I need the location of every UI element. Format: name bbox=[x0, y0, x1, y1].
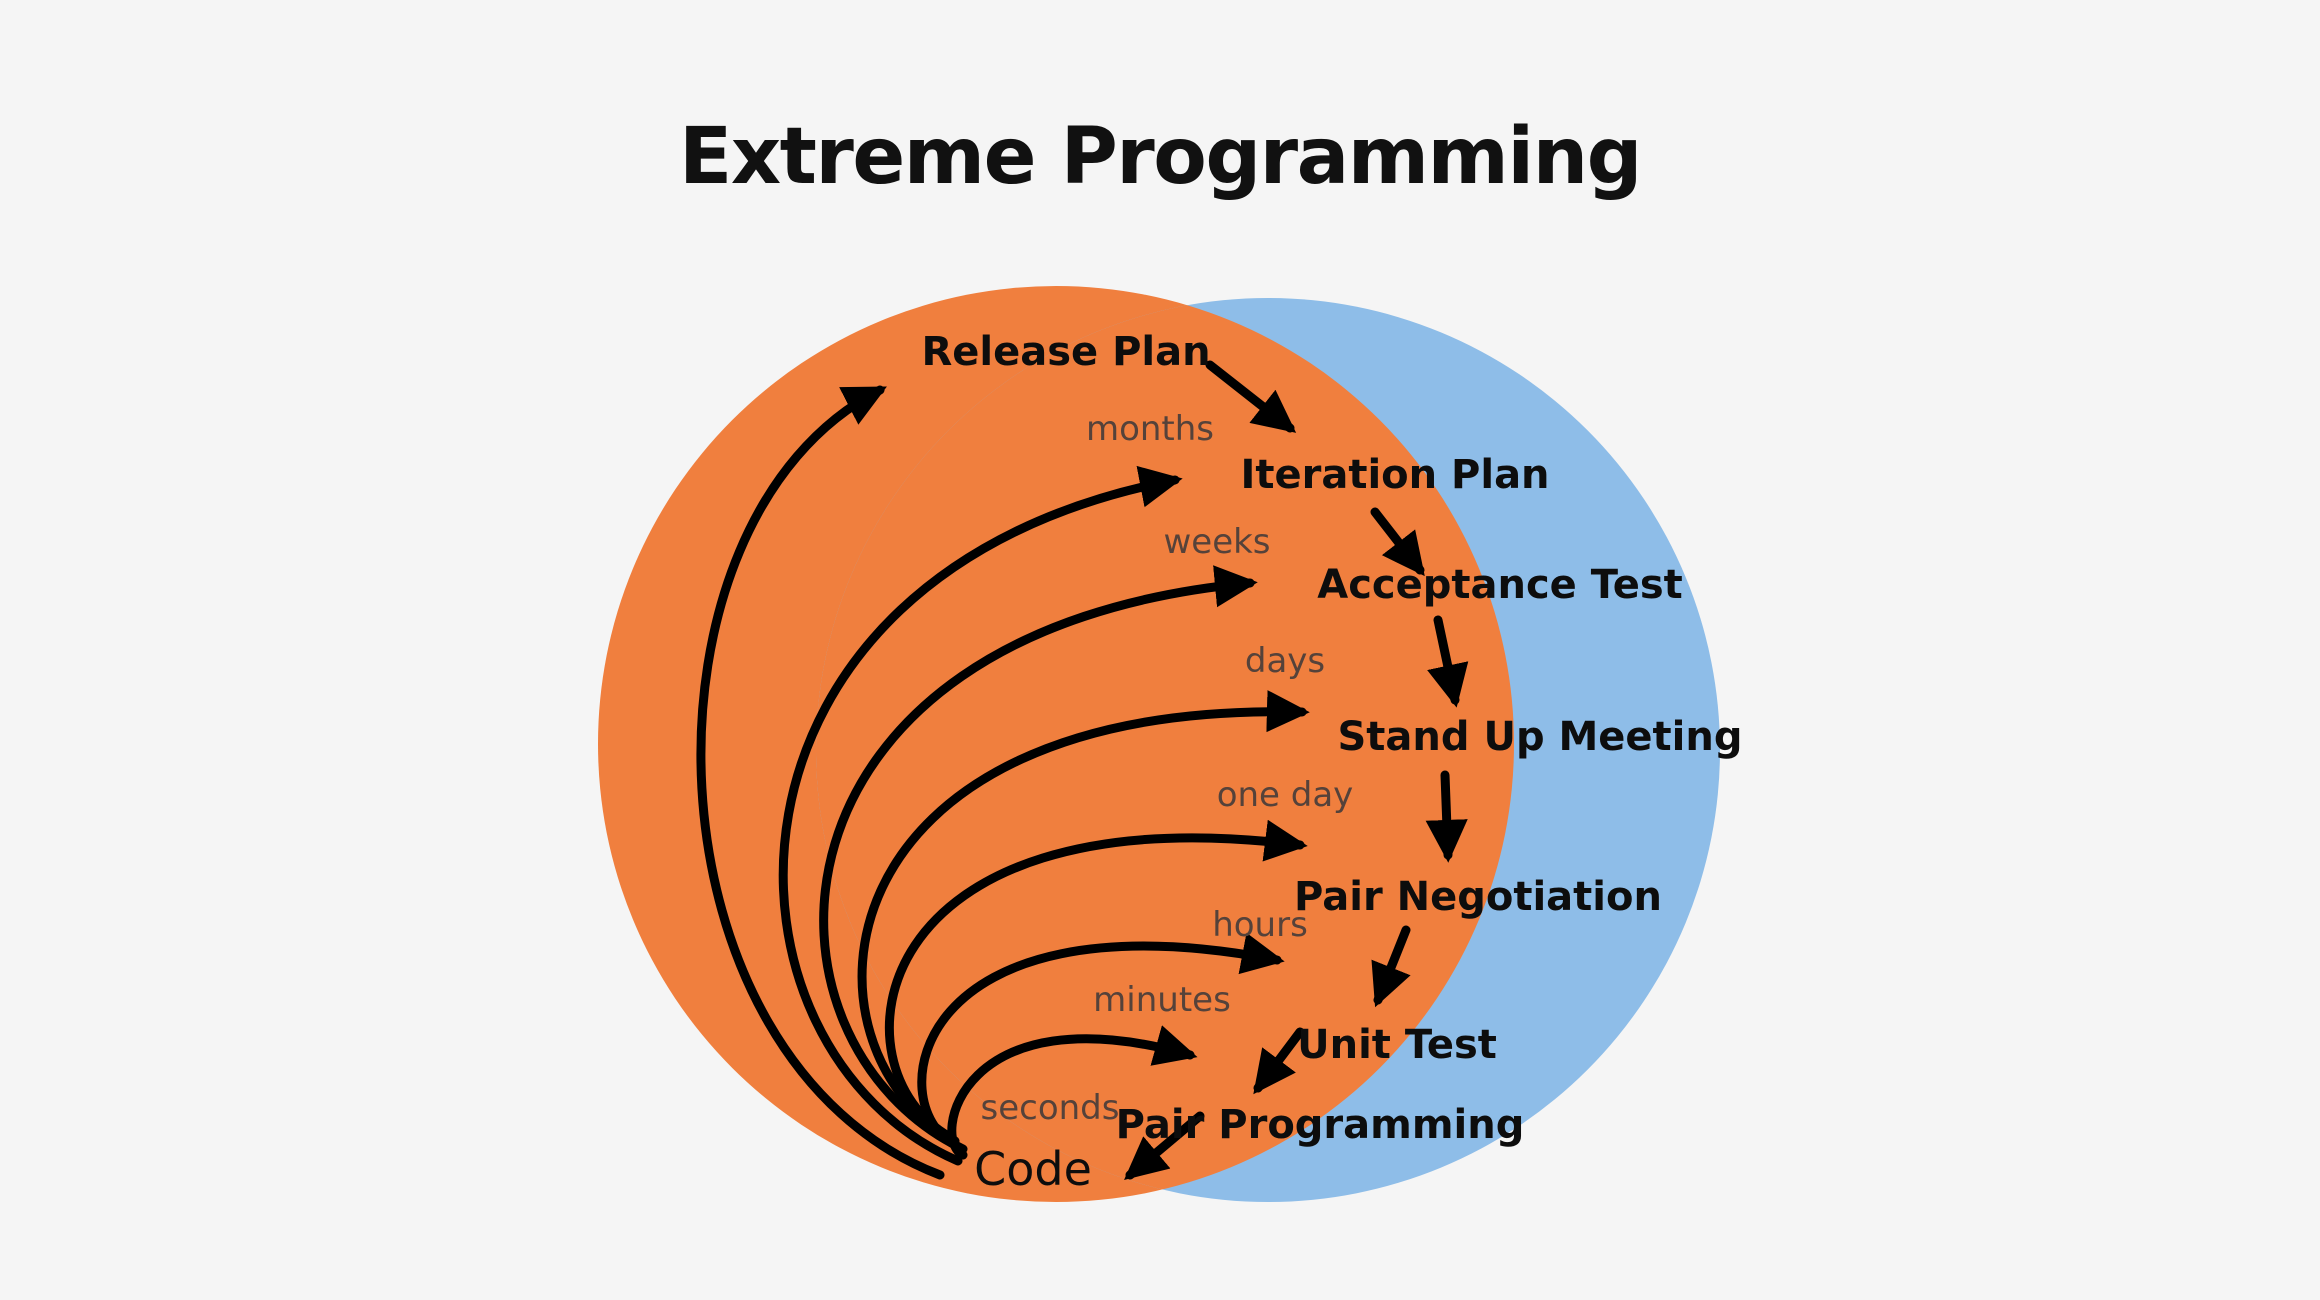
diagram-canvas: Extreme Programming bbox=[0, 0, 2320, 1300]
time-label-days: days bbox=[1245, 641, 1325, 681]
stage-label-unit-test: Unit Test bbox=[1297, 1022, 1497, 1068]
stage-label-acceptance-test: Acceptance Test bbox=[1317, 562, 1683, 608]
time-label-seconds: seconds bbox=[981, 1088, 1120, 1128]
stage-label-iteration-plan: Iteration Plan bbox=[1240, 452, 1549, 498]
stage-label-stand-up-meeting: Stand Up Meeting bbox=[1338, 714, 1743, 760]
time-label-weeks: weeks bbox=[1163, 522, 1270, 562]
stage-label-pair-negotiation: Pair Negotiation bbox=[1294, 874, 1662, 920]
stage-label-pair-programming: Pair Programming bbox=[1116, 1102, 1525, 1148]
time-label-months: months bbox=[1086, 409, 1214, 449]
flow-stand-up-meeting-to-pair-negotiation bbox=[1445, 775, 1448, 855]
stage-label-code: Code bbox=[974, 1142, 1092, 1196]
time-label-minutes: minutes bbox=[1093, 980, 1231, 1020]
extreme-programming-venn-diagram: Release Plan Iteration Plan Acceptance T… bbox=[0, 0, 2320, 1300]
stage-label-release-plan: Release Plan bbox=[921, 329, 1210, 375]
time-label-hours: hours bbox=[1212, 905, 1308, 945]
time-label-one-day: one day bbox=[1217, 775, 1354, 815]
